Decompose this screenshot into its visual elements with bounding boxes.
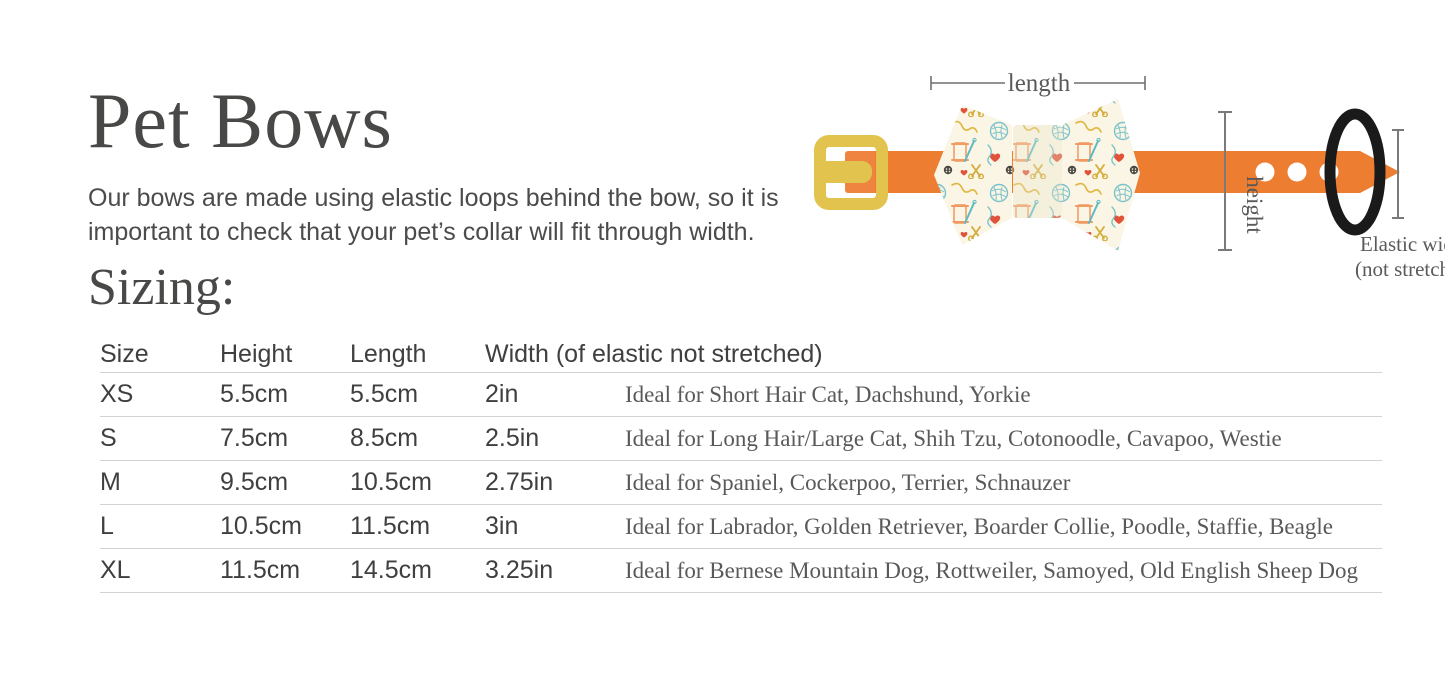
sizing-heading: Sizing: <box>88 262 235 314</box>
cell-height: 5.5cm <box>220 373 288 416</box>
cell-length: 11.5cm <box>350 505 430 548</box>
cell-length: 10.5cm <box>350 461 432 504</box>
collar-bow-diagram: length height <box>800 55 1445 295</box>
cell-description: Ideal for Labrador, Golden Retriever, Bo… <box>625 505 1333 548</box>
cell-size: M <box>100 461 121 504</box>
cell-description: Ideal for Long Hair/Large Cat, Shih Tzu,… <box>625 417 1282 460</box>
cell-width: 2in <box>485 373 518 416</box>
size-table: Size Height Length Width (of elastic not… <box>100 340 1382 593</box>
cell-width: 3.25in <box>485 549 553 592</box>
cell-height: 11.5cm <box>220 549 300 592</box>
table-row: XL 11.5cm 14.5cm 3.25in Ideal for Bernes… <box>100 549 1382 593</box>
cell-length: 14.5cm <box>350 549 432 592</box>
cell-description: Ideal for Spaniel, Cockerpoo, Terrier, S… <box>625 461 1070 504</box>
cell-height: 9.5cm <box>220 461 288 504</box>
cell-height: 7.5cm <box>220 417 288 460</box>
cell-width: 2.5in <box>485 417 539 460</box>
table-row: S 7.5cm 8.5cm 2.5in Ideal for Long Hair/… <box>100 417 1382 461</box>
column-header-size: Size <box>100 340 149 369</box>
cell-size: L <box>100 505 114 548</box>
cell-size: XL <box>100 549 131 592</box>
cell-description: Ideal for Bernese Mountain Dog, Rottweil… <box>625 549 1358 592</box>
intro-paragraph: Our bows are made using elastic loops be… <box>88 181 803 250</box>
elastic-width-label-line1: Elastic width <box>1360 232 1445 256</box>
page-title: Pet Bows <box>88 82 393 160</box>
elastic-width-label-line2: (not stretched) <box>1355 257 1445 281</box>
table-row: XS 5.5cm 5.5cm 2in Ideal for Short Hair … <box>100 373 1382 417</box>
collar-hole-2 <box>1288 163 1307 182</box>
column-header-width: Width (of elastic not stretched) <box>485 340 823 369</box>
table-row: M 9.5cm 10.5cm 2.75in Ideal for Spaniel,… <box>100 461 1382 505</box>
column-header-height: Height <box>220 340 292 369</box>
cell-size: XS <box>100 373 133 416</box>
table-header-row: Size Height Length Width (of elastic not… <box>100 340 1382 373</box>
cell-height: 10.5cm <box>220 505 302 548</box>
length-label: length <box>1008 70 1071 97</box>
table-row: L 10.5cm 11.5cm 3in Ideal for Labrador, … <box>100 505 1382 549</box>
cell-description: Ideal for Short Hair Cat, Dachshund, Yor… <box>625 373 1031 416</box>
height-label: height <box>1242 176 1267 234</box>
cell-size: S <box>100 417 117 460</box>
column-header-length: Length <box>350 340 426 369</box>
cell-length: 5.5cm <box>350 373 418 416</box>
cell-width: 2.75in <box>485 461 553 504</box>
cell-length: 8.5cm <box>350 417 418 460</box>
bow-tie-icon <box>934 99 1140 251</box>
cell-width: 3in <box>485 505 518 548</box>
